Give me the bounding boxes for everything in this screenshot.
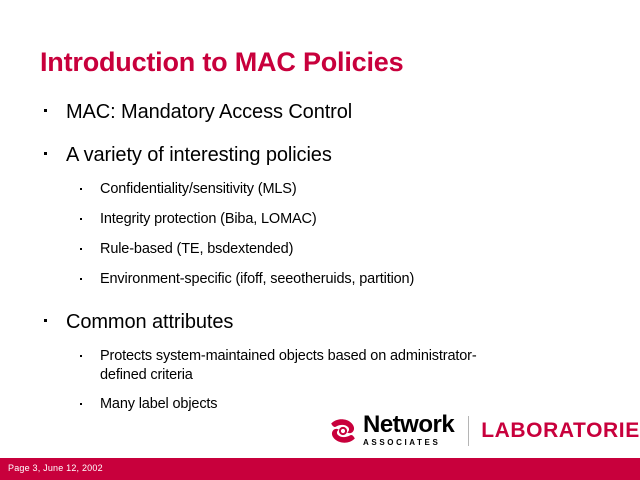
bullet-text: Confidentiality/sensitivity (MLS) [100, 180, 297, 199]
footer-page-date: Page 3, June 12, 2002 [8, 463, 103, 473]
slide-body: MAC: Mandatory Access Control A variety … [40, 100, 600, 425]
bullet-text: A variety of interesting policies [66, 143, 332, 167]
sub-bullet-marker-icon [78, 180, 100, 200]
sub-bullet-marker-icon [78, 210, 100, 230]
bullet-level2: Integrity protection (Biba, LOMAC) [78, 210, 600, 230]
logo-primary-text: Network [363, 414, 454, 436]
presentation-slide: Introduction to MAC Policies MAC: Mandat… [0, 0, 640, 480]
bullet-text: Environment-specific (ifoff, seeotheruid… [100, 270, 414, 289]
bullet-text: Common attributes [66, 310, 233, 334]
bullet-text: MAC: Mandatory Access Control [66, 100, 352, 124]
spacer [40, 300, 600, 310]
logo-division-text: LABORATORIES [481, 419, 640, 443]
logo-secondary-text: ASSOCIATES [363, 437, 454, 448]
bullet-level1: A variety of interesting policies [40, 143, 600, 167]
bullet-marker-icon [40, 143, 66, 167]
slide-title: Introduction to MAC Policies [40, 48, 600, 78]
bullet-level2: Protects system-maintained objects based… [78, 347, 600, 385]
bullet-marker-icon [40, 100, 66, 124]
sub-bullet-marker-icon [78, 347, 100, 367]
bullet-level2: Rule-based (TE, bsdextended) [78, 240, 600, 260]
logo-divider [468, 416, 469, 446]
bullet-text: Protects system-maintained objects based… [100, 347, 490, 385]
sub-bullet-marker-icon [78, 240, 100, 260]
sub-bullet-marker-icon [78, 395, 100, 415]
bullet-text: Rule-based (TE, bsdextended) [100, 240, 293, 259]
bullet-level1: MAC: Mandatory Access Control [40, 100, 600, 124]
bullet-marker-icon [40, 310, 66, 334]
bullet-text: Integrity protection (Biba, LOMAC) [100, 210, 317, 229]
bullet-level1: Common attributes [40, 310, 600, 334]
network-associates-laboratories-logo: Network ASSOCIATES LABORATORIES [328, 410, 640, 452]
logo-wordmark: Network ASSOCIATES [363, 414, 454, 448]
bullet-level2: Environment-specific (ifoff, seeotheruid… [78, 270, 600, 290]
sub-bullet-marker-icon [78, 270, 100, 290]
footer-bar: Page 3, June 12, 2002 [0, 458, 640, 480]
network-associates-swoosh-icon [328, 416, 358, 446]
bullet-text: Many label objects [100, 395, 217, 414]
bullet-level2: Confidentiality/sensitivity (MLS) [78, 180, 600, 200]
